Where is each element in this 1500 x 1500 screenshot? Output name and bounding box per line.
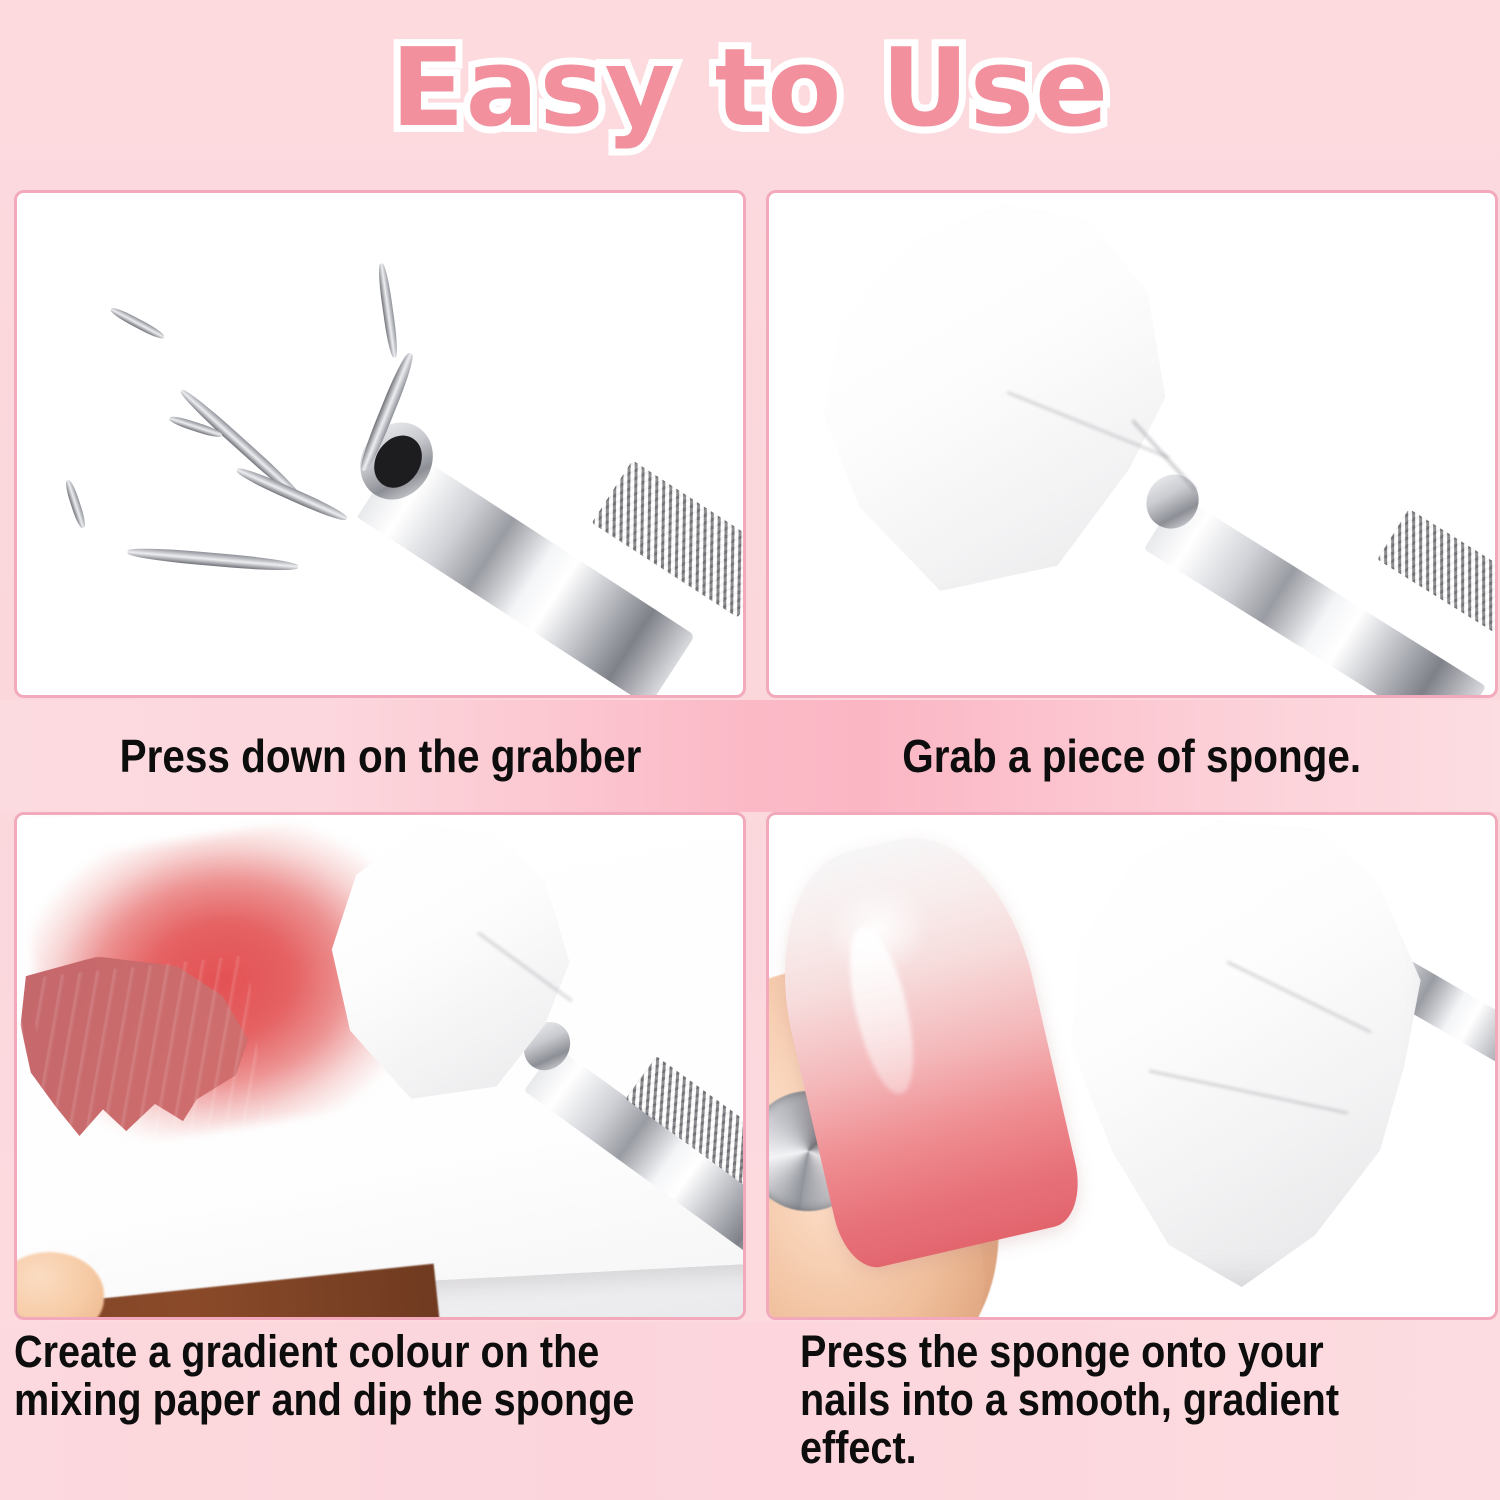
- grabber-prong-lower-left: [127, 546, 298, 574]
- grabber-tool-illustration: [17, 193, 743, 695]
- grabber-prong-lower-left-tip: [64, 479, 88, 530]
- steps-row-bottom: [0, 812, 1500, 1322]
- step-4-image-panel: [766, 812, 1498, 1320]
- mixing-paper-illustration: [17, 815, 743, 1317]
- grabber-prong-upper-left-tip: [109, 305, 167, 342]
- sponge-in-grabber-illustration: [769, 193, 1495, 695]
- step-3-caption: Create a gradient colour on the mixing p…: [14, 1328, 674, 1424]
- steps-row-top: [0, 190, 1500, 700]
- caption-band-bottom: Create a gradient colour on the mixing p…: [0, 1322, 1500, 1500]
- page-title-container: Easy to Use: [0, 18, 1500, 158]
- step-4-caption: Press the sponge onto your nails into a …: [800, 1328, 1416, 1472]
- step-4-caption-container: Press the sponge onto your nails into a …: [800, 1328, 1500, 1500]
- grabber-prong-upper-right-tip: [376, 263, 399, 359]
- step-1-image-panel: [14, 190, 746, 698]
- grabber-prong-middle-left: [234, 464, 349, 524]
- step-1-column: [14, 190, 746, 700]
- caption-band-top: Press down on the grabber Grab a piece o…: [0, 700, 1500, 812]
- step-2-column: [766, 190, 1498, 700]
- step-2-caption: Grab a piece of sponge.: [903, 732, 1362, 780]
- infographic-page: Easy to Use: [0, 0, 1500, 1500]
- step-1-caption: Press down on the grabber: [119, 732, 641, 780]
- step-3-caption-container: Create a gradient colour on the mixing p…: [14, 1328, 764, 1500]
- step-3-image-panel: [14, 812, 746, 1320]
- step-2-caption-container: Grab a piece of sponge.: [766, 700, 1498, 812]
- step-3-column: [14, 812, 746, 1322]
- nail-gradient-illustration: [769, 815, 1495, 1317]
- polish-smear-brush-streaks: [30, 955, 264, 1148]
- page-title: Easy to Use: [391, 26, 1110, 151]
- step-2-image-panel: [766, 190, 1498, 698]
- step-4-column: [766, 812, 1498, 1322]
- sponge-wedge: [1030, 820, 1437, 1292]
- tool-handle-knurled-grip: [1377, 509, 1498, 645]
- step-1-caption-container: Press down on the grabber: [14, 700, 746, 812]
